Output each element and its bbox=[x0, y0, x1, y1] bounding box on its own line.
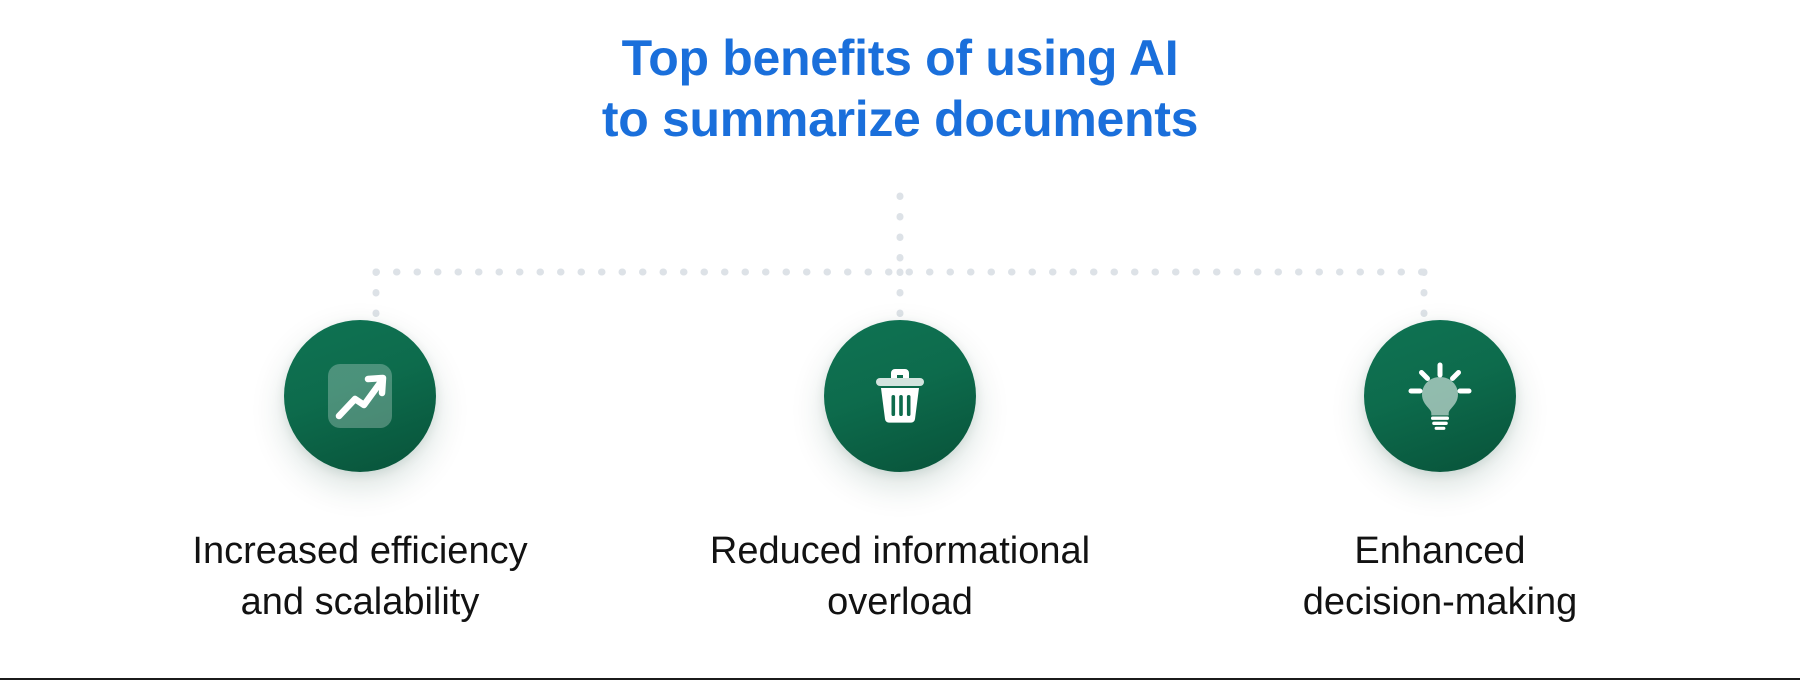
benefit-item-enhanced-decision-making[interactable]: Enhanced decision-making bbox=[1220, 320, 1660, 627]
benefit-icon-circle-1 bbox=[284, 320, 436, 472]
trash-bin-icon bbox=[857, 353, 943, 439]
benefit-icon-circle-2 bbox=[824, 320, 976, 472]
page-title-line-1: Top benefits of using AI bbox=[0, 28, 1800, 89]
benefit-label-2: Reduced informational overload bbox=[710, 526, 1090, 627]
benefits-row: Increased efficiency and scalability bbox=[0, 320, 1800, 627]
bottom-divider bbox=[0, 678, 1800, 680]
trending-up-chart-icon bbox=[317, 353, 403, 439]
benefit-item-reduced-informational-overload[interactable]: Reduced informational overload bbox=[680, 320, 1120, 627]
benefit-item-increased-efficiency[interactable]: Increased efficiency and scalability bbox=[140, 320, 580, 627]
page-title: Top benefits of using AI to summarize do… bbox=[0, 28, 1800, 150]
benefit-icon-circle-3 bbox=[1364, 320, 1516, 472]
benefit-label-3: Enhanced decision-making bbox=[1303, 526, 1578, 627]
lightbulb-idea-icon bbox=[1397, 353, 1483, 439]
infographic-slide: Top benefits of using AI to summarize do… bbox=[0, 0, 1800, 690]
benefit-label-1: Increased efficiency and scalability bbox=[192, 526, 527, 627]
page-title-line-2: to summarize documents bbox=[0, 89, 1800, 150]
